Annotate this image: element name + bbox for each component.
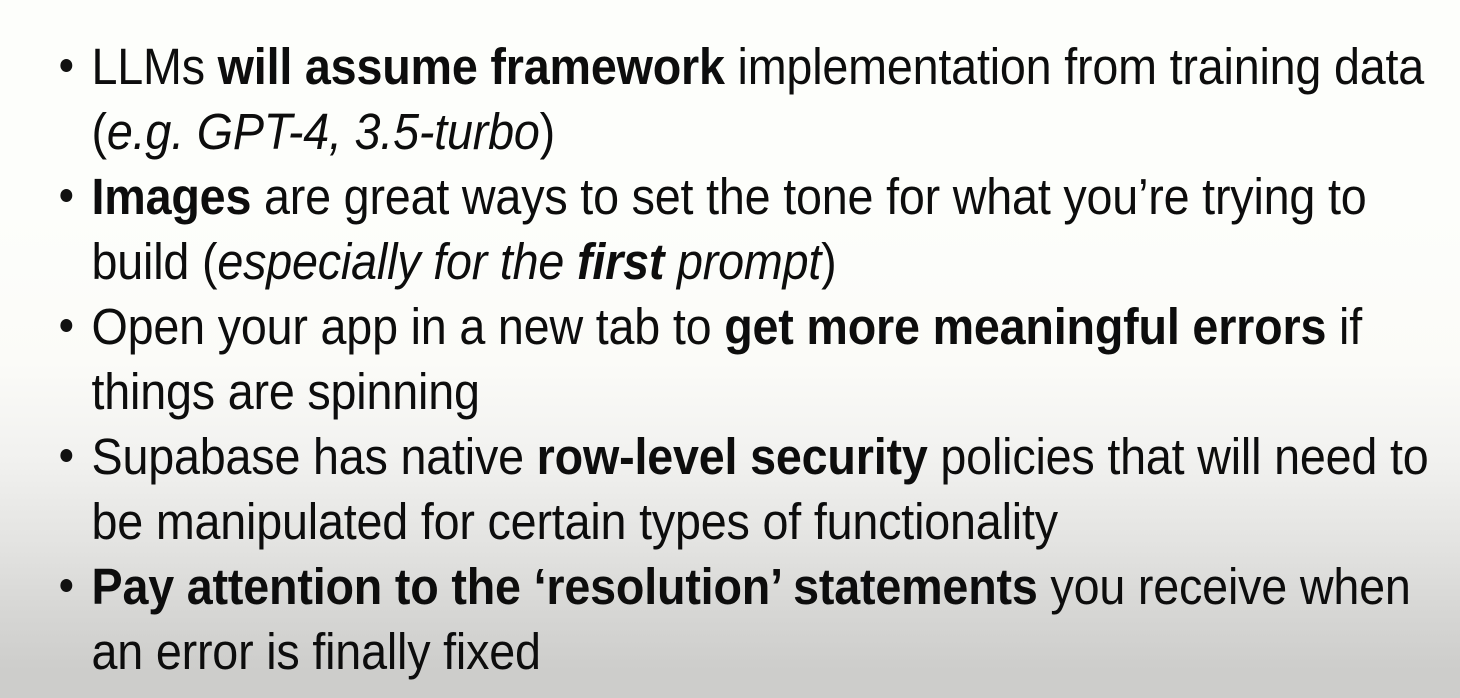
bullet-text: Pay attention to the ‘resolution’ statem…	[92, 554, 1442, 684]
slide-canvas: LLMs will assume framework implementatio…	[0, 0, 1460, 698]
bullet-text: Open your app in a new tab to get more m…	[92, 294, 1442, 424]
bullet-point-icon	[60, 59, 72, 72]
bullet-text: LLMs will assume framework implementatio…	[92, 34, 1442, 164]
bullet-item: Images are great ways to set the tone fo…	[0, 164, 1459, 294]
bullet-point-icon	[60, 579, 72, 592]
bullet-list: LLMs will assume framework implementatio…	[0, 34, 1460, 684]
bullet-point-icon	[60, 449, 72, 462]
bullet-item: Open your app in a new tab to get more m…	[0, 294, 1459, 424]
bullet-point-icon	[60, 189, 72, 202]
bullet-item: LLMs will assume framework implementatio…	[0, 34, 1459, 164]
bullet-item: Pay attention to the ‘resolution’ statem…	[0, 554, 1459, 684]
bullet-text: Images are great ways to set the tone fo…	[92, 164, 1442, 294]
bullet-point-icon	[60, 319, 72, 332]
bullet-text: Supabase has native row-level security p…	[92, 424, 1442, 554]
bullet-item: Supabase has native row-level security p…	[0, 424, 1459, 554]
